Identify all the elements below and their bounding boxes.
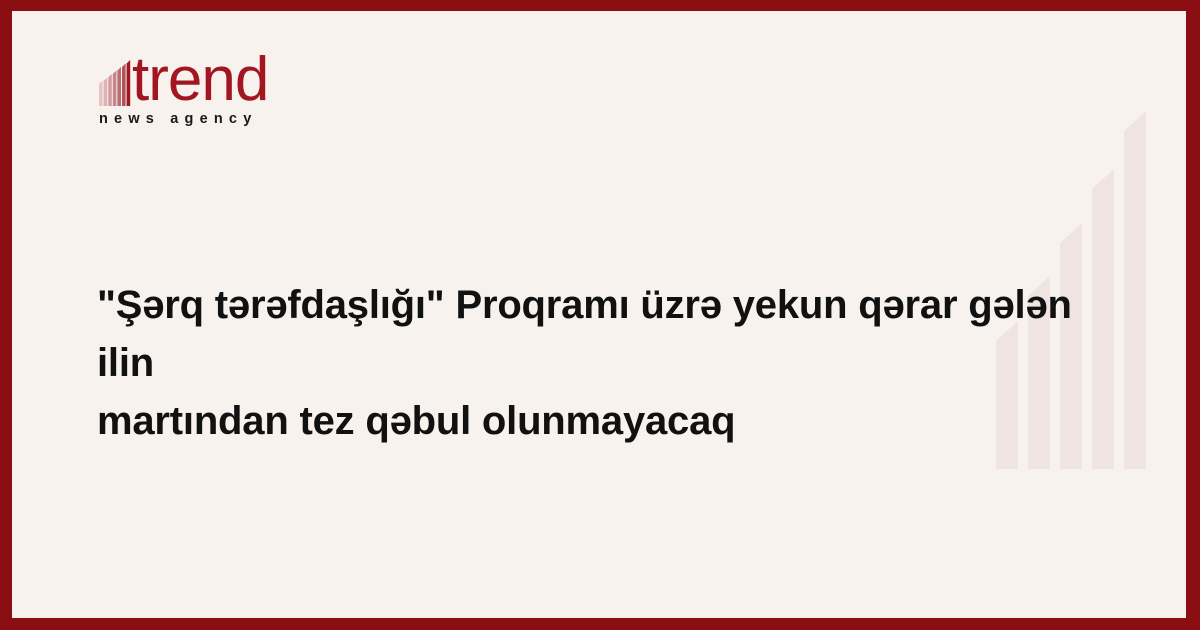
- logo-row: trend: [97, 44, 357, 106]
- logo-tagline: news agency: [99, 111, 357, 127]
- article-share-card: trend news agency "Şərq tərəfdaşlığı" Pr…: [0, 0, 1200, 630]
- logo-wordmark: trend: [132, 54, 268, 106]
- trend-bars-mark-icon: [97, 54, 131, 106]
- card-content-area: trend news agency "Şərq tərəfdaşlığı" Pr…: [12, 11, 1186, 618]
- article-headline: "Şərq tərəfdaşlığı" Proqramı üzrə yekun …: [97, 276, 1087, 450]
- site-logo[interactable]: trend news agency: [97, 44, 357, 127]
